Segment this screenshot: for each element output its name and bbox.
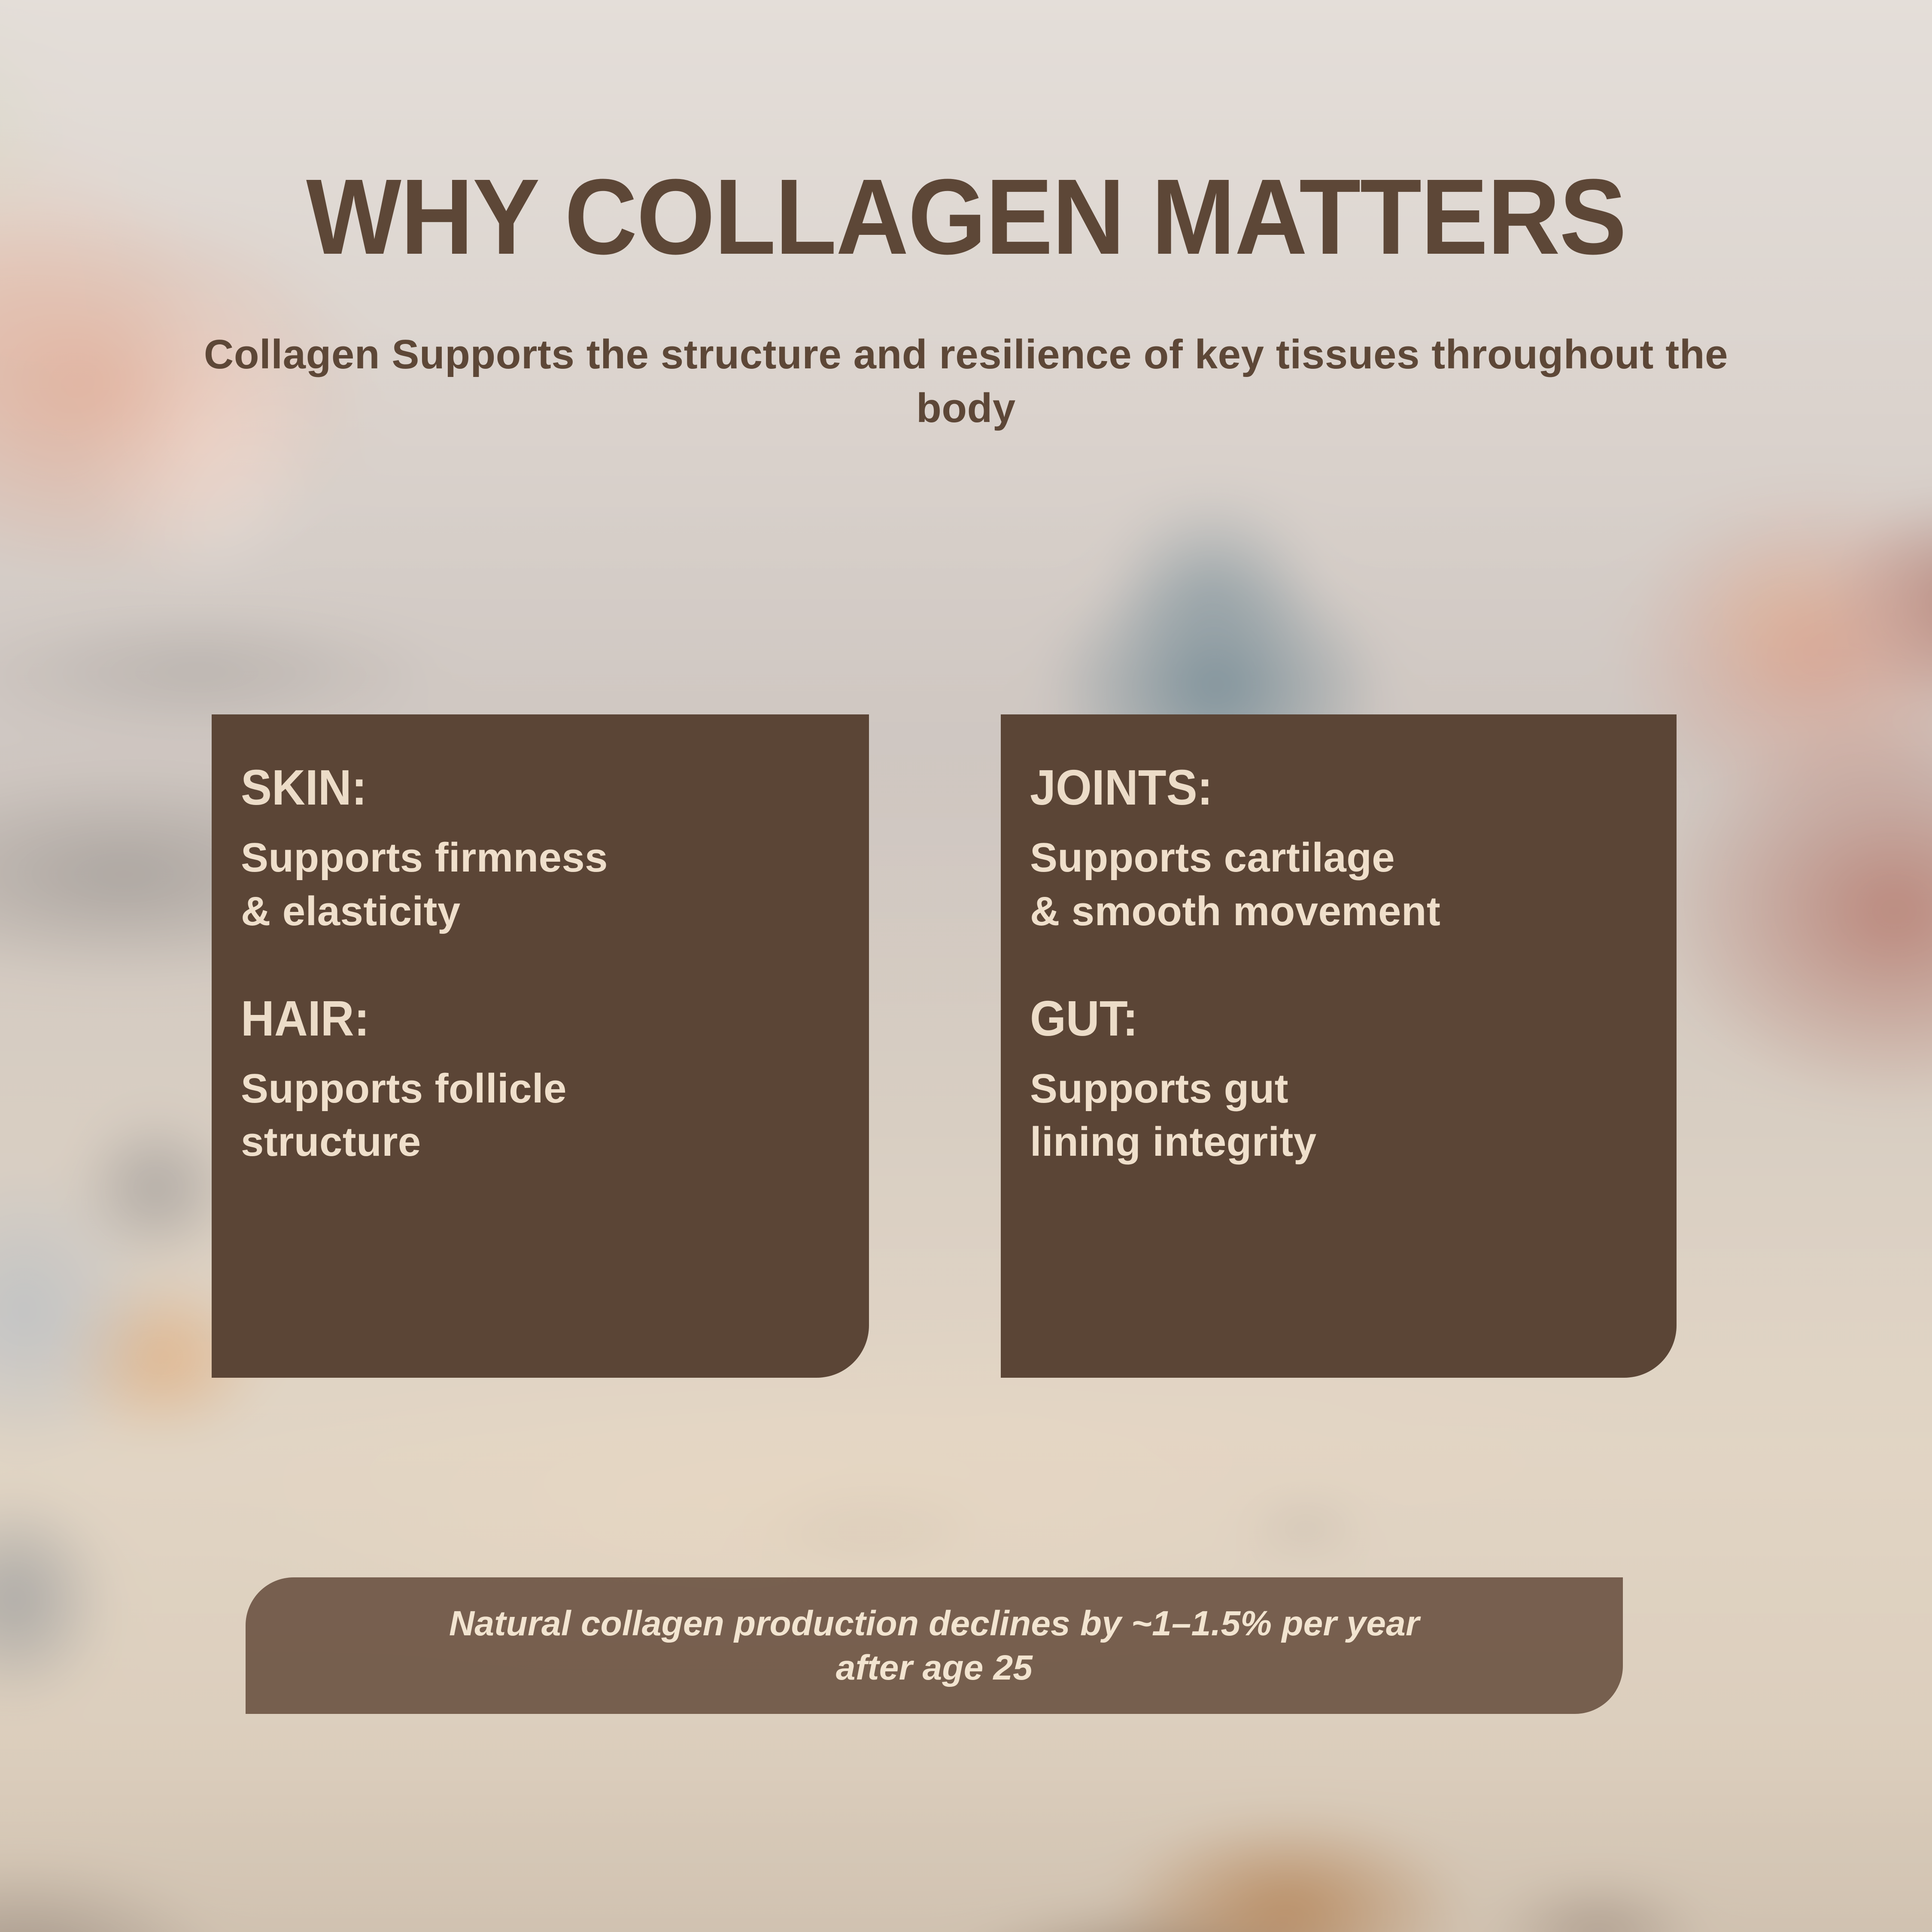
infographic-canvas: WHY COLLAGEN MATTERS Collagen Supports t… [0,0,1932,1932]
benefit-cards-row: SKIN: Supports firmness & elasticity HAI… [212,714,1677,1378]
page-title: WHY COLLAGEN MATTERS [58,163,1874,270]
footer-stat-text: Natural collagen production declines by … [290,1601,1578,1690]
benefit-heading-joints: JOINTS: [1030,762,1603,812]
benefit-heading-skin: SKIN: [241,762,797,812]
benefit-block-gut: GUT: Supports gut lining integrity [1030,993,1646,1170]
benefit-block-hair: HAIR: Supports follicle structure [241,993,839,1170]
benefit-heading-hair: HAIR: [241,993,797,1043]
benefit-body-joints: Supports cartilage & smooth movement [1030,831,1646,939]
benefit-heading-gut: GUT: [1030,993,1603,1043]
benefit-block-joints: JOINTS: Supports cartilage & smooth move… [1030,762,1646,939]
benefit-block-skin: SKIN: Supports firmness & elasticity [241,762,839,939]
benefit-body-skin: Supports firmness & elasticity [241,831,839,939]
footer-stat-banner: Natural collagen production declines by … [246,1577,1623,1714]
benefit-body-gut: Supports gut lining integrity [1030,1062,1646,1170]
benefit-body-hair: Supports follicle structure [241,1062,839,1170]
header-block: WHY COLLAGEN MATTERS Collagen Supports t… [0,163,1932,435]
benefit-card-right: JOINTS: Supports cartilage & smooth move… [1001,714,1677,1378]
page-subtitle: Collagen Supports the structure and resi… [202,328,1730,435]
benefit-card-left: SKIN: Supports firmness & elasticity HAI… [212,714,869,1378]
